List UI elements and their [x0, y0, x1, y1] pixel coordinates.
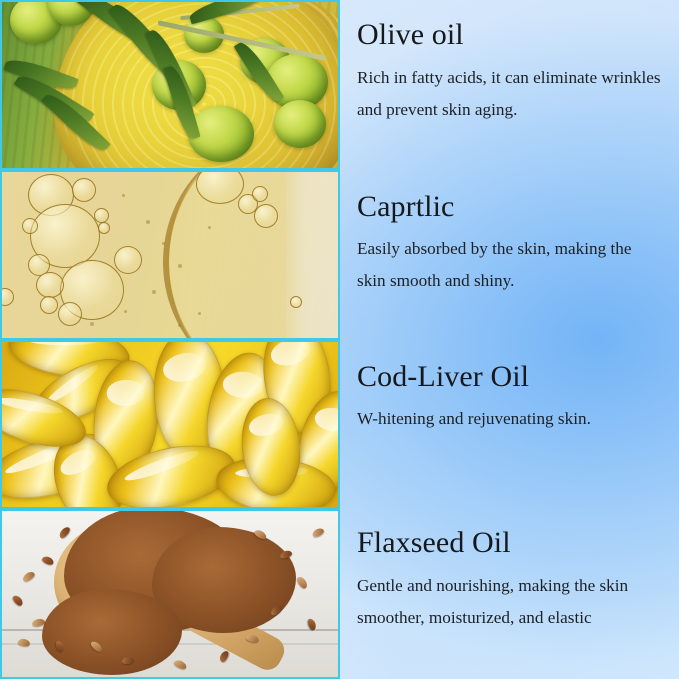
oil-bubble	[290, 296, 302, 308]
oil-speck	[152, 290, 156, 294]
entry-title: Caprtlic	[357, 190, 663, 225]
benefit-row: Flaxseed Oil Gentle and nourishing, maki…	[0, 509, 679, 679]
oil-benefits-infographic: Olive oil Rich in fatty acids, it can el…	[0, 0, 679, 679]
flax-seed	[311, 527, 325, 539]
caprylic-image	[0, 170, 340, 340]
oil-speck	[122, 194, 125, 197]
flaxseed-oil-image	[0, 509, 340, 679]
entry-description: Easily absorbed by the skin, making the …	[357, 233, 663, 297]
oil-bubble	[254, 204, 278, 228]
oil-bubble	[72, 178, 96, 202]
flax-seed	[11, 594, 24, 608]
flaxseed-oil-photo	[2, 511, 338, 677]
benefit-row-list: Olive oil Rich in fatty acids, it can el…	[0, 0, 679, 679]
oil-bubble	[22, 218, 38, 234]
oil-speck	[146, 220, 150, 224]
olive-oil-text: Olive oil Rich in fatty acids, it can el…	[340, 0, 679, 170]
oil-speck	[124, 310, 127, 313]
benefit-row: Cod-Liver Oil W-hitening and rejuvenatin…	[0, 340, 679, 510]
seed-pile	[42, 589, 182, 675]
cod-liver-oil-photo	[2, 342, 338, 508]
flax-seed	[17, 638, 30, 647]
benefit-row: Olive oil Rich in fatty acids, it can el…	[0, 0, 679, 170]
entry-description: Gentle and nourishing, making the skin s…	[357, 570, 663, 634]
entry-title: Cod-Liver Oil	[357, 360, 663, 395]
entry-title: Olive oil	[357, 18, 663, 53]
oil-speck	[162, 242, 165, 245]
olive-oil-image	[0, 0, 340, 170]
oil-speck	[178, 264, 182, 268]
oil-bubble	[98, 222, 110, 234]
oil-speck	[178, 324, 181, 327]
oil-speck	[198, 312, 201, 315]
cod-liver-oil-text: Cod-Liver Oil W-hitening and rejuvenatin…	[340, 340, 679, 510]
olive-fruit	[274, 100, 326, 148]
flax-seed	[173, 659, 188, 671]
oil-bubble	[58, 302, 82, 326]
entry-description: W-hitening and rejuvenating skin.	[357, 403, 663, 435]
cod-liver-oil-image	[0, 340, 340, 510]
caprylic-photo	[2, 172, 338, 338]
entry-title: Flaxseed Oil	[357, 526, 663, 561]
flax-seed	[21, 570, 36, 583]
oil-bubble	[40, 296, 58, 314]
benefit-row: Caprtlic Easily absorbed by the skin, ma…	[0, 170, 679, 340]
flax-seed	[218, 650, 230, 664]
oil-bubble	[252, 186, 268, 202]
oil-bubble	[94, 208, 109, 223]
olive-oil-photo	[2, 2, 338, 168]
oil-bubble	[2, 288, 14, 306]
oil-speck	[208, 226, 211, 229]
caprylic-text: Caprtlic Easily absorbed by the skin, ma…	[340, 170, 679, 340]
oil-speck	[90, 322, 94, 326]
flax-seed	[41, 555, 55, 566]
entry-description: Rich in fatty acids, it can eliminate wr…	[357, 62, 663, 126]
flax-seed	[296, 575, 309, 590]
oil-bubble	[36, 272, 64, 298]
oil-bubble	[114, 246, 142, 274]
flax-seed	[58, 526, 72, 540]
flaxseed-oil-text: Flaxseed Oil Gentle and nourishing, maki…	[340, 509, 679, 679]
